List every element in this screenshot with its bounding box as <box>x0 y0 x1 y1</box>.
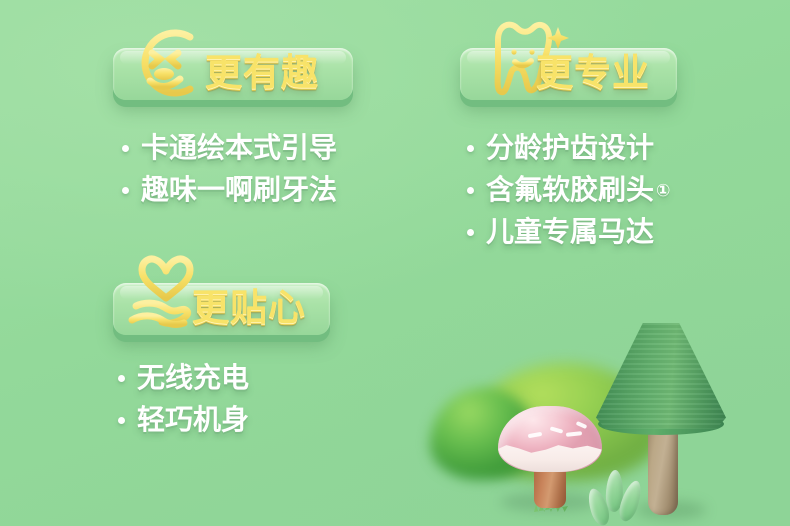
feature-list-professional: 分龄护齿设计 含氟软胶刷头 ① 儿童专属马达 <box>467 134 670 260</box>
tree-cone <box>596 323 726 433</box>
sprinkle-icon <box>576 421 588 429</box>
badge-fun-label: 更有趣 <box>205 54 319 91</box>
list-item-label: 含氟软胶刷头 <box>486 176 654 204</box>
list-item-label: 趣味一啊刷牙法 <box>141 176 337 204</box>
sprinkle-icon <box>550 426 564 433</box>
badge-professional: 更专业 <box>460 48 677 100</box>
list-item-label: 卡通绘本式引导 <box>141 134 337 162</box>
bullet-dot-icon <box>122 187 129 194</box>
badge-caring: 更贴心 <box>113 283 330 335</box>
sprinkle-icon <box>528 432 542 438</box>
bullet-dot-icon <box>467 145 474 152</box>
bullet-dot-icon <box>118 375 125 382</box>
bullet-dot-icon <box>122 145 129 152</box>
bullet-dot-icon <box>118 417 125 424</box>
sprinkle-icon <box>566 431 582 437</box>
list-item-label: 轻巧机身 <box>137 406 249 434</box>
footnote-marker: ① <box>656 182 670 199</box>
bullet-dot-icon <box>467 187 474 194</box>
leaves-icon <box>584 468 650 526</box>
list-item-label: 无线充电 <box>137 364 249 392</box>
badge-fun: 更有趣 <box>113 48 353 100</box>
feature-list-fun: 卡通绘本式引导 趣味一啊刷牙法 <box>122 134 337 218</box>
mushroom-cap <box>498 406 602 472</box>
promo-banner: 更有趣 更专业 <box>0 0 790 526</box>
list-item-label: 分龄护齿设计 <box>486 134 654 162</box>
list-item: 含氟软胶刷头 ① <box>467 176 670 204</box>
list-item: 无线充电 <box>118 364 249 392</box>
list-item: 轻巧机身 <box>118 406 249 434</box>
list-item: 儿童专属马达 <box>467 218 670 246</box>
list-item: 分龄护齿设计 <box>467 134 670 162</box>
feature-list-caring: 无线充电 轻巧机身 <box>118 364 249 448</box>
list-item: 趣味一啊刷牙法 <box>122 176 337 204</box>
list-item-label: 儿童专属马达 <box>486 218 654 246</box>
badge-caring-label: 更贴心 <box>192 289 306 326</box>
list-item: 卡通绘本式引导 <box>122 134 337 162</box>
smiley-face-icon <box>118 17 210 114</box>
badge-professional-label: 更专业 <box>536 54 650 91</box>
bullet-dot-icon <box>467 229 474 236</box>
